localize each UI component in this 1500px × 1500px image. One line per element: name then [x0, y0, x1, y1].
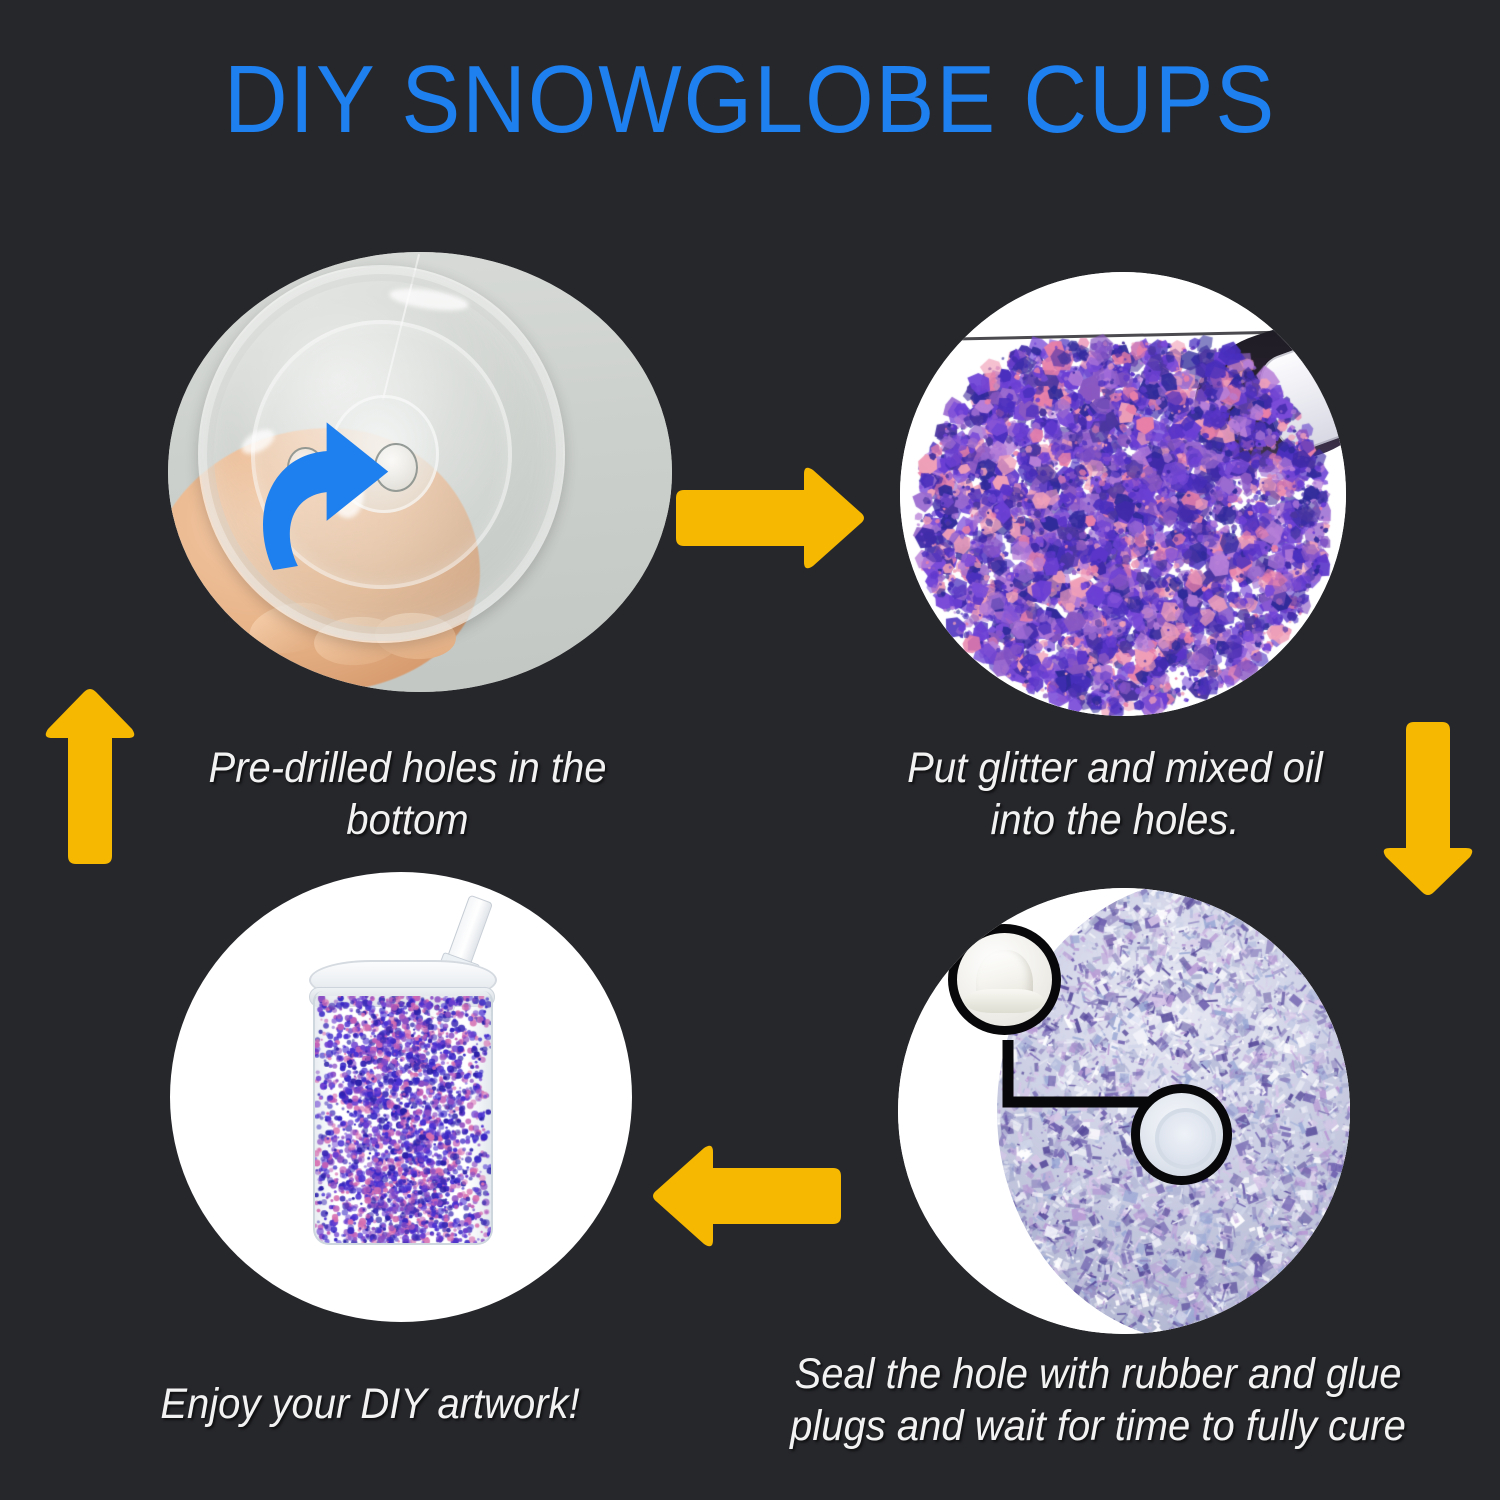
page-title: DIY SNOWGLOBE CUPS [60, 52, 1440, 148]
callout-rubber-plug [948, 924, 1061, 1036]
cup-glitter-fill [315, 996, 491, 1244]
infographic-canvas: DIY SNOWGLOBE CUPS [0, 0, 1500, 1500]
cup-body [313, 996, 493, 1246]
glass-glare [388, 284, 470, 314]
step-image-finished [170, 872, 632, 1322]
caption-holes: Pre-drilled holes in the bottom [117, 742, 698, 847]
flow-arrow-left-icon [645, 1140, 849, 1254]
flow-arrow-right-icon [668, 462, 868, 574]
step-image-holes [168, 252, 672, 692]
blue-curved-arrow-icon [218, 410, 460, 595]
rubber-plug-brim [964, 989, 1044, 1013]
step-image-glitter [900, 272, 1346, 716]
glitter-flakes [900, 272, 1346, 716]
caption-seal: Seal the hole with rubber and glue plugs… [745, 1348, 1452, 1453]
callout-sealed-hole [1131, 1084, 1233, 1184]
sealed-hole-ring [1155, 1108, 1217, 1169]
step-image-sealed [898, 888, 1350, 1334]
caption-glitter: Put glitter and mixed oil into the holes… [836, 742, 1394, 847]
caption-finished: Enjoy your DIY artwork! [82, 1378, 659, 1430]
